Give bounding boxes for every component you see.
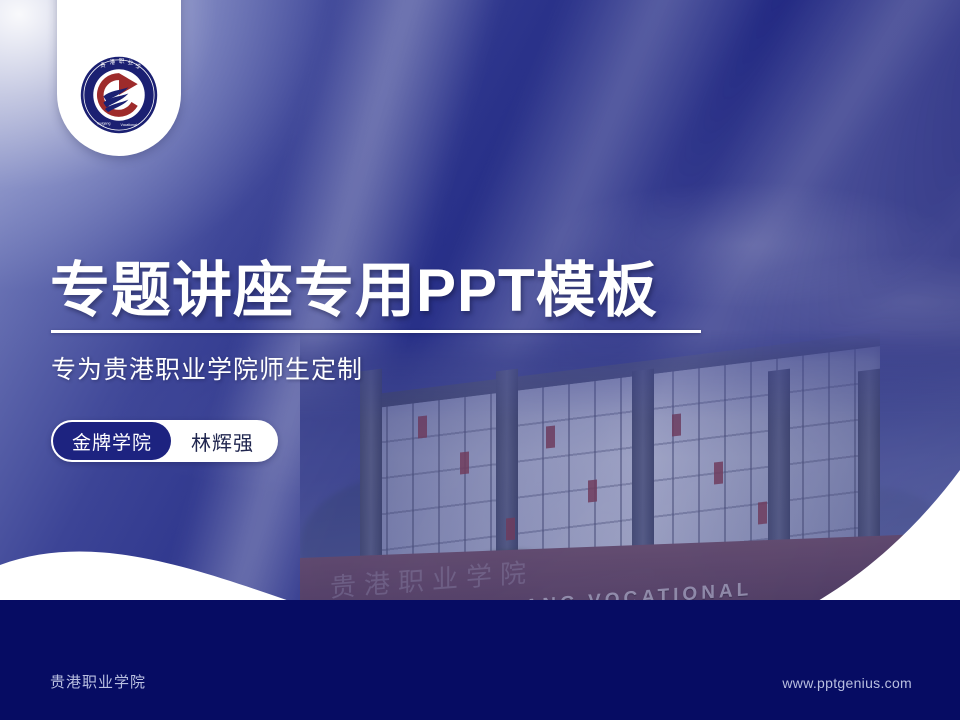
- footer-institution: 贵港职业学院: [50, 671, 146, 692]
- logo-plaque: 贵港职业学 GuigangVocational: [57, 0, 181, 156]
- page-subtitle: 专为贵港职业学院师生定制: [51, 350, 363, 386]
- footer-band: [0, 600, 960, 720]
- presenter-badge: 金牌学院 林辉强: [51, 420, 278, 462]
- title-divider: [51, 330, 701, 333]
- svg-text:Guigang: Guigang: [97, 122, 110, 126]
- page-title: 专题讲座专用PPT模板: [50, 242, 658, 329]
- guigang-vocational-college-emblem-icon: 贵港职业学 GuigangVocational: [80, 56, 158, 134]
- presenter-name: 林辉强: [171, 427, 254, 456]
- svg-text:职: 职: [119, 58, 125, 65]
- svg-text:Vocational: Vocational: [121, 123, 137, 127]
- footer-website[interactable]: www.pptgenius.com: [782, 675, 912, 691]
- presentation-slide: 贵港职业学院 GUIGANG VOCATIONAL 贵港职业学 Guiga: [0, 0, 960, 720]
- badge-chip-label: 金牌学院: [53, 422, 171, 460]
